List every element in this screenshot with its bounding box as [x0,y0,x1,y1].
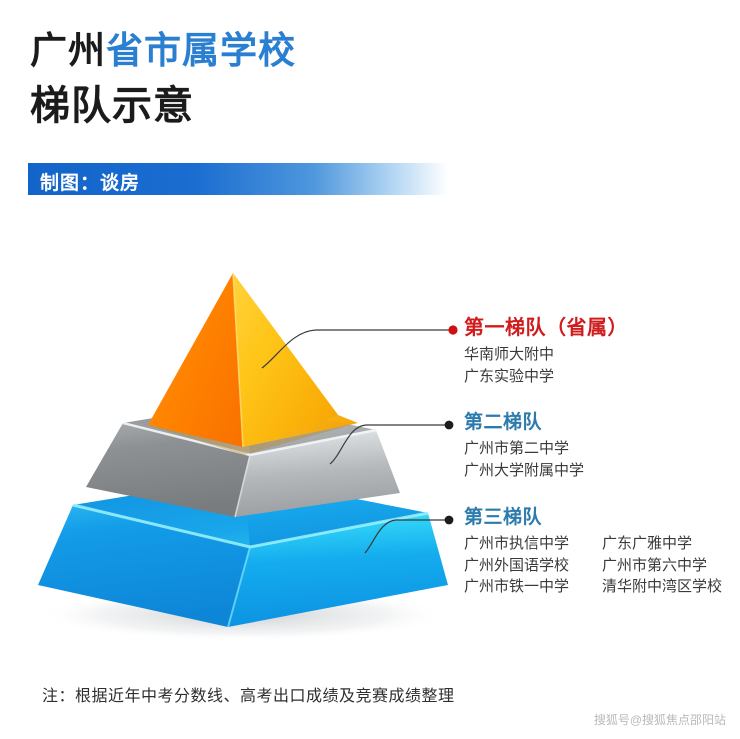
pyramid-svg [28,255,458,640]
tier-heading-1: 第一梯队（省属） [464,317,628,340]
tier-label-block-1: 第一梯队（省属） 华南师大附中 广东实验中学 [464,317,628,388]
tier-heading-3: 第三梯队 [464,507,722,529]
pyramid-graphic [28,255,458,640]
tier-item: 广州外国语学校 [464,555,602,577]
pyramid-tier-apex [148,273,358,455]
tier-items-1: 华南师大附中 广东实验中学 [464,344,628,388]
tier-item-row: 广州市铁一中学清华附中湾区学校 [464,576,722,598]
tier-item: 广东广雅中学 [602,533,692,555]
page-title-city: 广州 [30,30,106,71]
tier-item: 华南师大附中 [464,344,628,366]
tier-item: 广州市第二中学 [464,438,584,460]
tier-item: 广东实验中学 [464,366,628,388]
tier-item: 清华附中湾区学校 [602,576,722,598]
page-title-line1: 广州省市属学校 [30,32,296,69]
tier-item: 广州市第六中学 [602,555,707,577]
tier-item: 广州市执信中学 [464,533,602,555]
tier-label-block-3: 第三梯队 广州市执信中学广东广雅中学 广州外国语学校广州市第六中学 广州市铁一中… [464,507,722,598]
apex-face-left [148,273,243,447]
infographic-canvas: 广州省市属学校 梯队示意 制图：谈房 [0,0,740,739]
tier-item: 广州市铁一中学 [464,576,602,598]
footnote: 注：根据近年中考分数线、高考出口成绩及竞赛成绩整理 [42,682,455,706]
tier-item-row: 广州市执信中学广东广雅中学 [464,533,722,555]
tier-item: 广州大学附属中学 [464,460,584,482]
watermark: 搜狐号@搜狐焦点邵阳站 [594,711,726,728]
page-title-line2: 梯队示意 [30,86,194,126]
tier-items-3: 广州市执信中学广东广雅中学 广州外国语学校广州市第六中学 广州市铁一中学清华附中… [464,533,722,598]
apex-face-front [233,273,358,447]
credit-text: 制图：谈房 [40,168,140,195]
tier-label-block-2: 第二梯队 广州市第二中学 广州大学附属中学 [464,412,584,481]
page-title-accent: 省市属学校 [106,30,296,71]
tier-item-row: 广州外国语学校广州市第六中学 [464,555,722,577]
tier-items-2: 广州市第二中学 广州大学附属中学 [464,438,584,482]
tier-heading-2: 第二梯队 [464,412,584,434]
credit-bar: 制图：谈房 [28,163,448,195]
